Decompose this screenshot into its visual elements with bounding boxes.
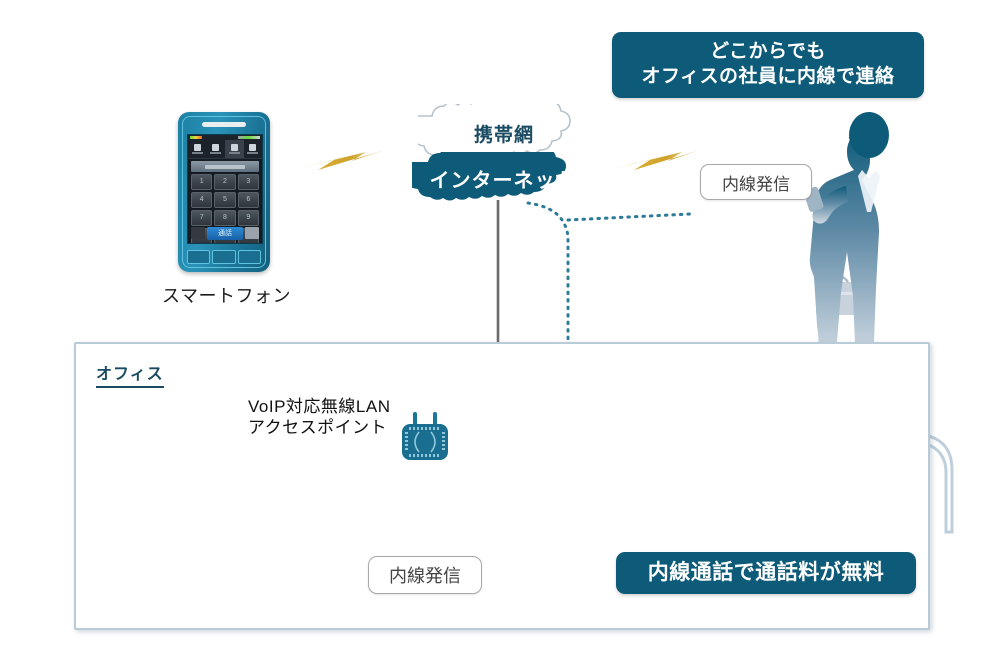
phone-tab-recents[interactable] xyxy=(244,140,263,158)
callout-anywhere-extension: どこからでも オフィスの社員に内線で連絡 xyxy=(612,32,924,98)
phone-status-bar xyxy=(188,135,262,140)
access-point-caption-line-2: アクセスポイント xyxy=(248,417,391,438)
phone-delete-button[interactable] xyxy=(245,227,259,239)
phone-key[interactable]: 9 xyxy=(238,210,259,226)
recents-icon xyxy=(249,144,256,151)
phone-key[interactable]: 6 xyxy=(238,192,259,208)
phone-hardware-buttons[interactable] xyxy=(187,250,261,264)
access-point-caption-line-1: VoIP対応無線LAN xyxy=(248,396,391,417)
cloud-internet: インターネット xyxy=(412,152,594,204)
employee-head xyxy=(849,112,889,158)
smartphone-caption: スマートフォン xyxy=(162,282,291,308)
phone-key[interactable]: 1 xyxy=(191,174,212,190)
lightning-bolt-icon-1 xyxy=(296,150,384,170)
tag-extension-call-bottom: 内線発信 xyxy=(368,556,482,594)
office-label: オフィス xyxy=(96,360,164,388)
contacts-icon xyxy=(194,144,201,151)
employee-tie xyxy=(858,170,880,212)
phone-key[interactable]: 3 xyxy=(238,174,259,190)
phone-key[interactable]: 2 xyxy=(214,174,235,190)
standing-employee-figure xyxy=(803,112,889,356)
phone-number-text xyxy=(205,165,245,169)
phone-tab-icons[interactable] xyxy=(188,140,262,159)
phone-tab-contacts[interactable] xyxy=(188,140,207,158)
employee-arm xyxy=(813,186,848,224)
phone-back-button[interactable] xyxy=(187,250,210,264)
phone-menu-hw-button[interactable] xyxy=(238,250,261,264)
smartphone-device[interactable]: 1 2 3 4 5 6 7 8 9 * 0 # 通話 xyxy=(178,112,270,272)
phone-call-button[interactable]: 通話 xyxy=(207,227,243,240)
diagram-canvas: オフィス どこからでも オフィスの社員に内線で連絡 内線通話で通話料が無料 携帯… xyxy=(0,0,1000,664)
phone-action-row[interactable]: 通話 xyxy=(191,226,259,240)
phone-screen[interactable]: 1 2 3 4 5 6 7 8 9 * 0 # 通話 xyxy=(187,134,263,244)
phone-tab-favorites[interactable] xyxy=(207,140,226,158)
battery-icon xyxy=(238,136,260,139)
access-point-detail xyxy=(402,424,448,460)
signal-icon xyxy=(190,136,202,139)
phone-key[interactable]: 4 xyxy=(191,192,212,208)
keypad-icon xyxy=(231,144,238,151)
employee-body xyxy=(810,130,879,356)
phone-speaker xyxy=(202,122,246,127)
wireless-access-point-device xyxy=(402,412,448,460)
cloud-shape-dark xyxy=(412,152,594,204)
lightning-bolt-icon-2 xyxy=(612,150,700,170)
phone-number-field[interactable] xyxy=(191,161,259,172)
callout-line-1: どこからでも xyxy=(710,40,826,65)
phone-key[interactable]: 5 xyxy=(214,192,235,208)
briefcase-icon xyxy=(816,277,864,316)
access-point-caption: VoIP対応無線LAN アクセスポイント xyxy=(248,396,391,439)
callout-free-extension-calls: 内線通話で通話料が無料 xyxy=(616,552,916,594)
phone-key[interactable]: 7 xyxy=(191,210,212,226)
favorites-icon xyxy=(212,144,219,151)
tag-extension-call-top: 内線発信 xyxy=(700,164,812,200)
phone-home-button[interactable] xyxy=(212,250,235,264)
dotted-path-to-standing-person xyxy=(568,214,690,220)
phone-menu-button[interactable] xyxy=(191,227,205,239)
callout-line-2: オフィスの社員に内線で連絡 xyxy=(641,65,894,90)
phone-tab-keypad[interactable] xyxy=(225,140,244,158)
phone-key[interactable]: 8 xyxy=(214,210,235,226)
